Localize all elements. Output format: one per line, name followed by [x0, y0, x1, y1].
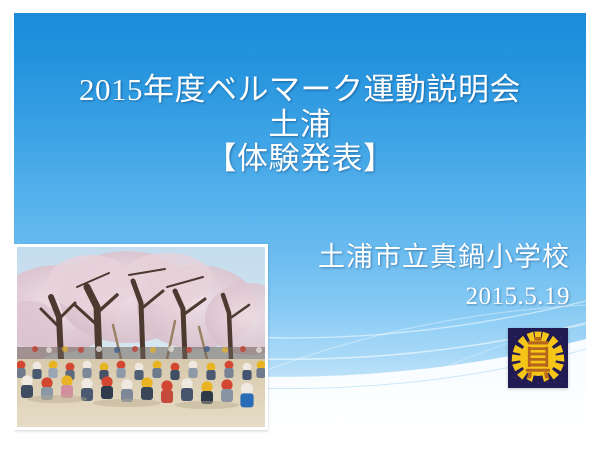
title-line-2: 土浦	[14, 108, 586, 143]
title-line-3: 【体験発表】	[14, 142, 586, 177]
slide-subtitle: 土浦市立真鍋小学校 2015.5.19	[318, 241, 570, 311]
slide-title: 2015年度ベルマーク運動説明会 土浦 【体験発表】	[14, 73, 586, 177]
school-name: 土浦市立真鍋小学校	[318, 241, 570, 273]
title-line-1: 2015年度ベルマーク運動説明会	[14, 73, 586, 108]
slide-canvas: 2015年度ベルマーク運動説明会 土浦 【体験発表】 土浦市立真鍋小学校 201…	[14, 13, 586, 437]
photo-image	[17, 247, 265, 427]
cherry-blossom-schoolchildren-photo	[14, 244, 268, 430]
presentation-slide: 2015年度ベルマーク運動説明会 土浦 【体験発表】 土浦市立真鍋小学校 201…	[0, 0, 600, 450]
manabe-elementary-school-emblem-icon	[508, 328, 568, 388]
presentation-date: 2015.5.19	[318, 283, 570, 311]
